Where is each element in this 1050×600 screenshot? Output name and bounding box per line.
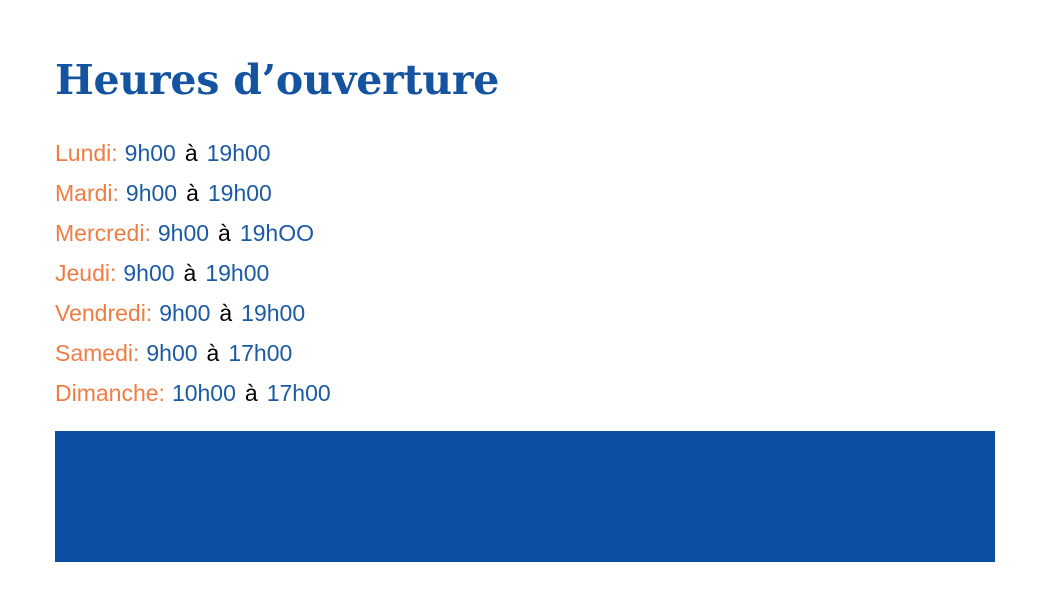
time-separator: à xyxy=(177,173,208,213)
day-label: Mercredi: xyxy=(55,220,151,246)
open-time: 9h00 xyxy=(126,180,177,206)
open-time: 9h00 xyxy=(123,260,174,286)
time-separator: à xyxy=(236,373,267,413)
close-time: 17h00 xyxy=(267,380,331,406)
day-label: Lundi: xyxy=(55,140,118,166)
close-time: 19h00 xyxy=(241,300,305,326)
close-time: 19h00 xyxy=(205,260,269,286)
time-separator: à xyxy=(175,253,206,293)
opening-hours-list: Lundi:9h00à19h00 Mardi:9h00à19h00 Mercre… xyxy=(55,133,675,413)
close-time: 19hOO xyxy=(240,220,314,246)
open-time: 9h00 xyxy=(146,340,197,366)
blue-banner-block xyxy=(55,431,995,562)
time-separator: à xyxy=(210,293,241,333)
day-label: Samedi: xyxy=(55,340,139,366)
list-item: Samedi:9h00à17h00 xyxy=(55,333,675,373)
time-separator: à xyxy=(176,133,207,173)
time-separator: à xyxy=(209,213,240,253)
open-time: 9h00 xyxy=(159,300,210,326)
list-item: Mercredi:9h00à19hOO xyxy=(55,213,675,253)
time-separator: à xyxy=(198,333,229,373)
day-label: Jeudi: xyxy=(55,260,116,286)
open-time: 9h00 xyxy=(125,140,176,166)
slide-canvas: Heures d’ouverture Lundi:9h00à19h00 Mard… xyxy=(0,0,1050,600)
open-time: 10h00 xyxy=(172,380,236,406)
open-time: 9h00 xyxy=(158,220,209,246)
page-title: Heures d’ouverture xyxy=(55,58,499,104)
list-item: Dimanche:10h00à17h00 xyxy=(55,373,675,413)
day-label: Vendredi: xyxy=(55,300,152,326)
list-item: Lundi:9h00à19h00 xyxy=(55,133,675,173)
close-time: 19h00 xyxy=(208,180,272,206)
day-label: Dimanche: xyxy=(55,380,165,406)
list-item: Mardi:9h00à19h00 xyxy=(55,173,675,213)
close-time: 17h00 xyxy=(228,340,292,366)
close-time: 19h00 xyxy=(207,140,271,166)
list-item: Jeudi:9h00à19h00 xyxy=(55,253,675,293)
day-label: Mardi: xyxy=(55,180,119,206)
list-item: Vendredi:9h00à19h00 xyxy=(55,293,675,333)
